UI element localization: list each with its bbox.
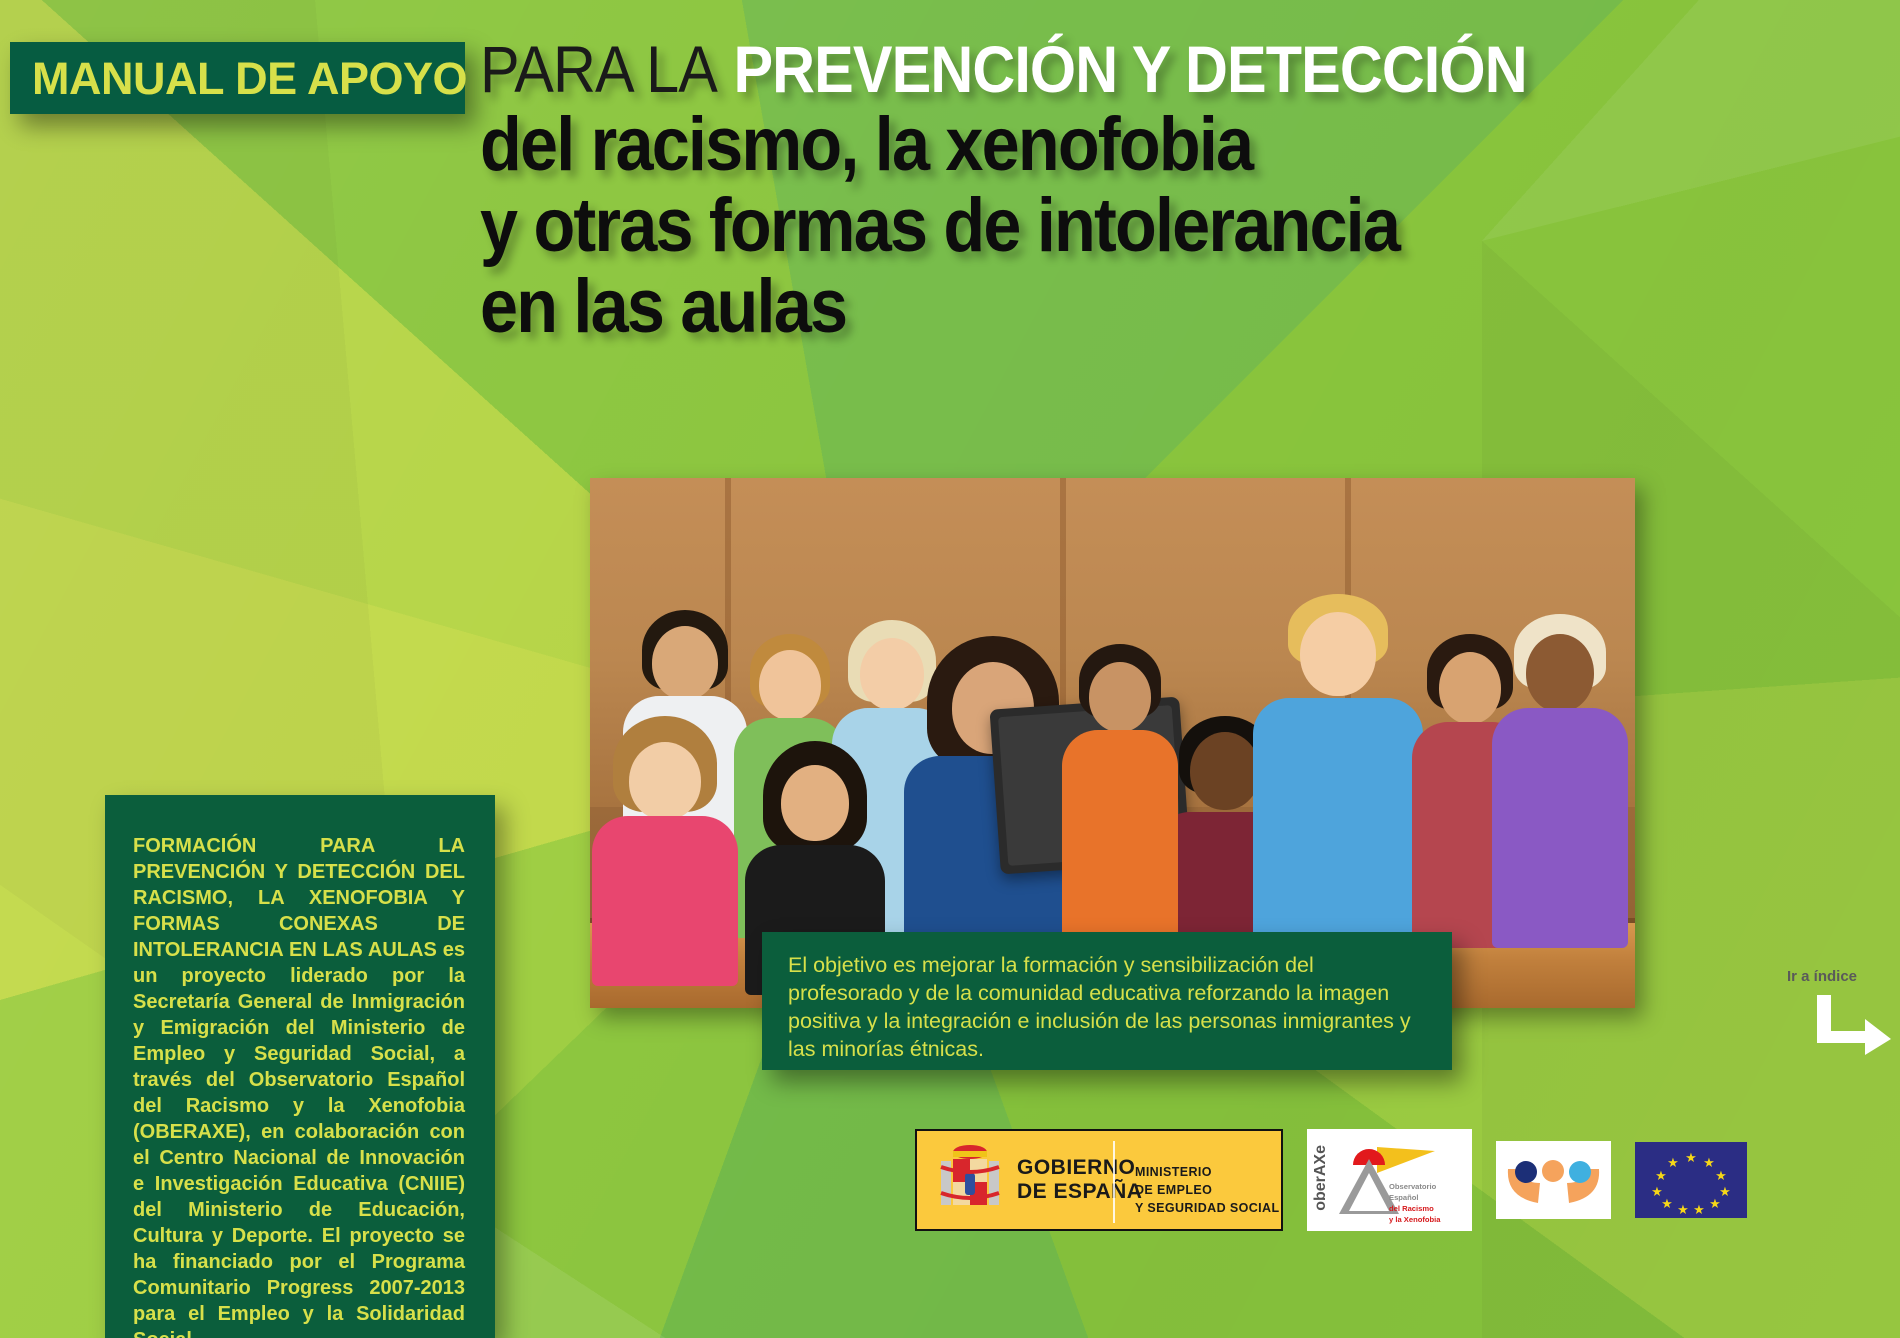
svg-text:★: ★ — [1703, 1155, 1715, 1170]
project-description-text: FORMACIÓN PARA LA PREVENCIÓN Y DETECCIÓN… — [133, 833, 465, 1338]
poster-page: MANUAL DE APOYO PARA LA PREVENCIÓN Y DET… — [0, 0, 1900, 1338]
svg-text:★: ★ — [1655, 1168, 1667, 1183]
cniie-people-icon — [1496, 1141, 1611, 1224]
photo-caption-text: El objetivo es mejorar la formación y se… — [788, 952, 1426, 1064]
logo-gobierno-de-espana: GOBIERNO DE ESPAÑA MINISTERIO DE EMPLEO … — [915, 1129, 1283, 1231]
photo-child — [1060, 644, 1180, 934]
oberaxe-tower-inner — [1349, 1173, 1389, 1211]
photo-child — [1490, 614, 1630, 934]
logo-ministry-line3: Y SEGURIDAD SOCIAL — [1135, 1199, 1280, 1217]
oberaxe-line4: y la Xenofobia — [1389, 1214, 1440, 1225]
oberaxe-line2: Español — [1389, 1192, 1440, 1203]
headline-line-1-bold: PREVENCIÓN Y DETECCIÓN — [733, 32, 1526, 106]
svg-text:★: ★ — [1661, 1196, 1673, 1211]
european-union-flag-icon: ★ ★ ★ ★ ★ ★ ★ ★ ★ ★ ★ — [1635, 1142, 1747, 1223]
photo-caption-box: El objetivo es mejorar la formación y se… — [762, 932, 1452, 1070]
classroom-photo — [590, 478, 1635, 1008]
logo-european-union: ★ ★ ★ ★ ★ ★ ★ ★ ★ ★ ★ — [1635, 1142, 1747, 1218]
headline-line-3: y otras formas de intolerancia — [480, 190, 1736, 263]
svg-text:★: ★ — [1651, 1184, 1663, 1199]
logo-ministry-line2: DE EMPLEO — [1135, 1181, 1280, 1199]
oberaxe-line3: del Racismo — [1389, 1203, 1440, 1214]
project-description-body: es un proyecto liderado por la Secretarí… — [133, 939, 465, 1338]
svg-text:★: ★ — [1715, 1168, 1727, 1183]
headline-line-1: PARA LA PREVENCIÓN Y DETECCIÓN — [480, 38, 1736, 101]
go-to-index-label[interactable]: Ir a índice — [1787, 968, 1882, 985]
svg-text:★: ★ — [1667, 1155, 1679, 1170]
svg-text:★: ★ — [1677, 1202, 1689, 1217]
svg-text:★: ★ — [1709, 1196, 1721, 1211]
logo-divider — [1113, 1141, 1115, 1223]
project-description-box: FORMACIÓN PARA LA PREVENCIÓN Y DETECCIÓN… — [105, 795, 495, 1338]
svg-text:★: ★ — [1685, 1150, 1697, 1165]
logo-oberaxe: oberAXe Observatorio Español del Racismo… — [1307, 1129, 1472, 1231]
arrow-down-right-icon[interactable] — [1813, 995, 1893, 1055]
project-description-lead: FORMACIÓN PARA LA PREVENCIÓN Y DETECCIÓN… — [133, 835, 465, 961]
headline-line-2: del racismo, la xenofobia — [480, 109, 1736, 182]
photo-child — [590, 716, 740, 966]
manual-badge-label: MANUAL DE APOYO — [10, 56, 467, 101]
svg-text:★: ★ — [1693, 1202, 1705, 1217]
logo-gobierno-line1: GOBIERNO — [1017, 1156, 1142, 1180]
headline-line-1-light: PARA LA — [480, 32, 717, 106]
logo-strip: GOBIERNO DE ESPAÑA MINISTERIO DE EMPLEO … — [915, 1124, 1747, 1236]
oberaxe-subtitle: Observatorio Español del Racismo y la Xe… — [1389, 1181, 1440, 1225]
headline-line-4: en las aulas — [480, 271, 1736, 344]
logo-cniie — [1496, 1141, 1611, 1219]
logo-ministry-text: MINISTERIO DE EMPLEO Y SEGURIDAD SOCIAL — [1135, 1163, 1280, 1217]
photo-child — [1250, 594, 1425, 934]
logo-gobierno-line2: DE ESPAÑA — [1017, 1180, 1142, 1204]
spain-coat-of-arms-icon — [939, 1143, 1001, 1217]
page-title: PARA LA PREVENCIÓN Y DETECCIÓN del racis… — [480, 38, 1875, 344]
logo-gobierno-text: GOBIERNO DE ESPAÑA — [1017, 1156, 1142, 1203]
manual-badge: MANUAL DE APOYO — [10, 42, 465, 114]
logo-ministry-line1: MINISTERIO — [1135, 1163, 1280, 1181]
svg-text:★: ★ — [1719, 1184, 1731, 1199]
oberaxe-wordmark: oberAXe — [1312, 1145, 1330, 1211]
oberaxe-line1: Observatorio — [1389, 1181, 1440, 1192]
